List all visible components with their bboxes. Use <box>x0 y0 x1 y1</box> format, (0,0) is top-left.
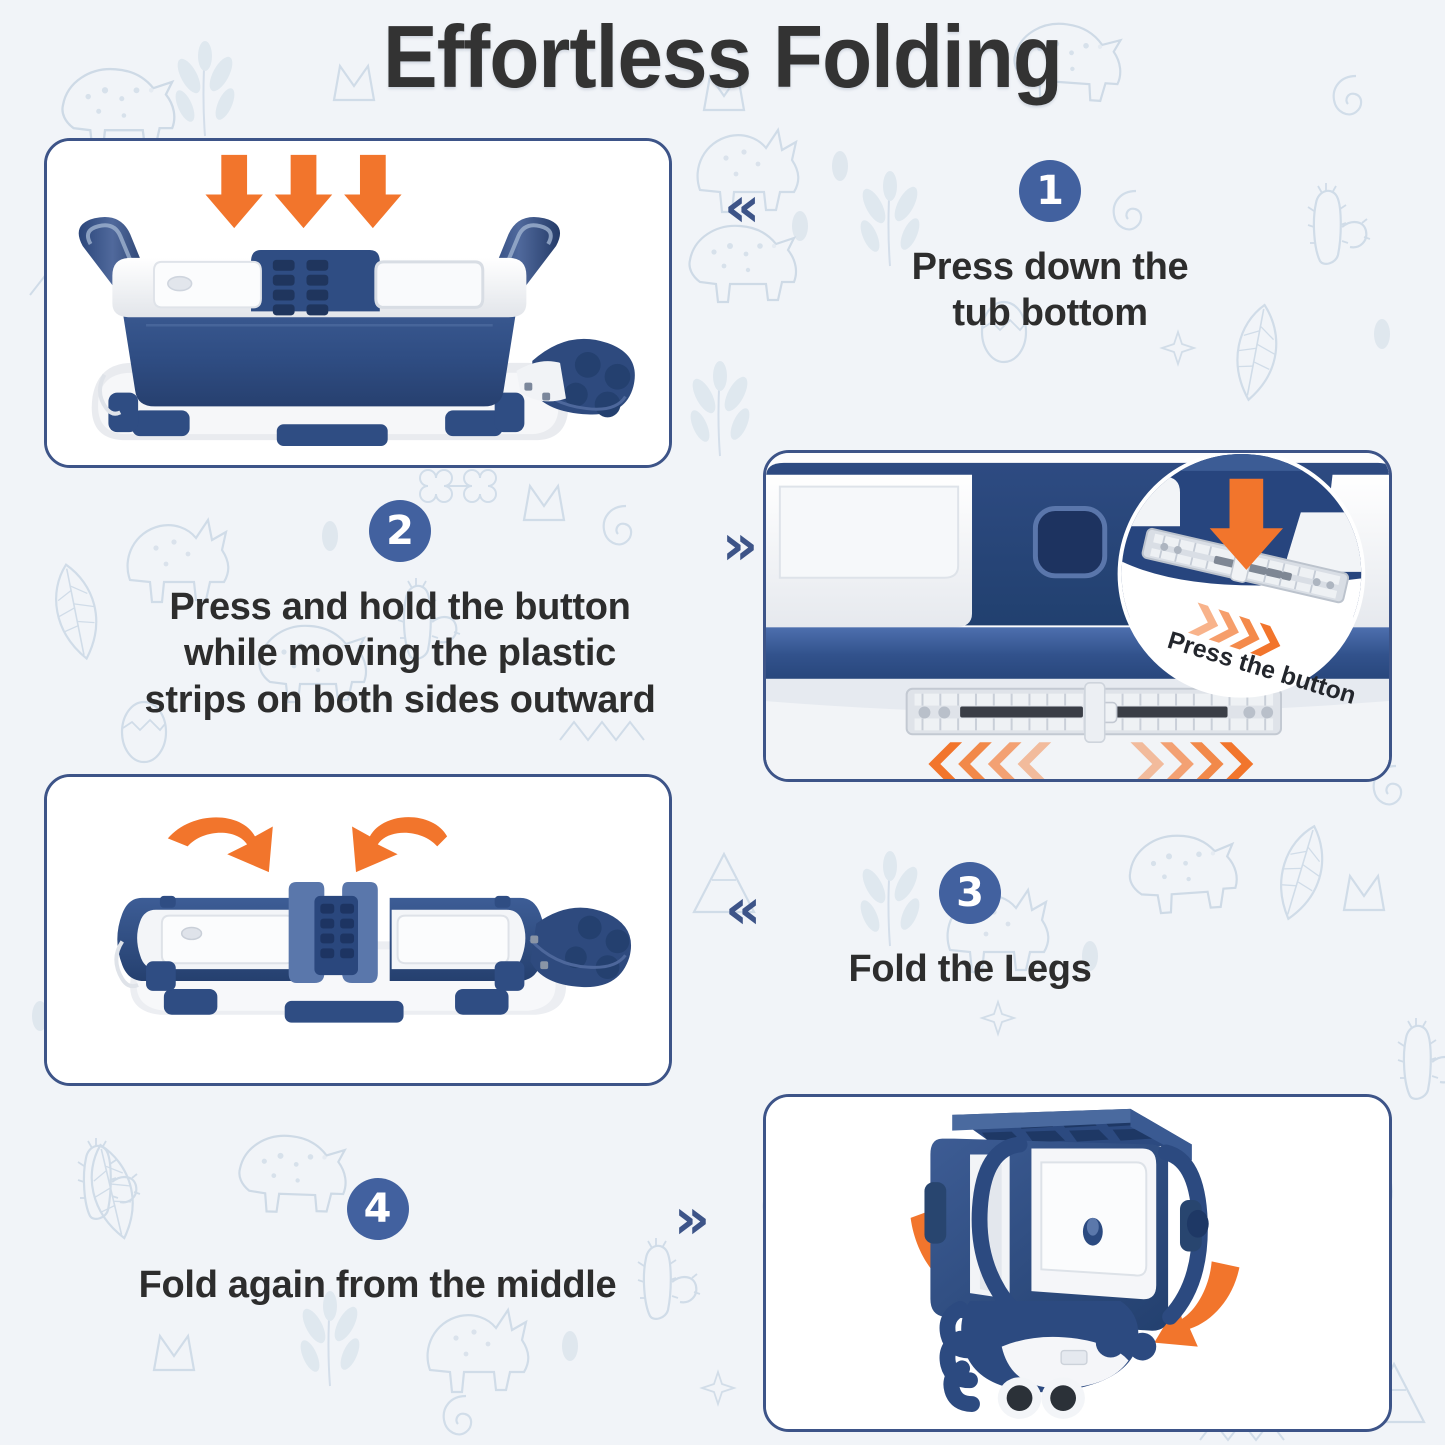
chevron-right-double-icon: » <box>722 518 758 574</box>
bathtub-folded-illustration <box>766 1097 1389 1432</box>
chevron-left-double-icon: « <box>725 882 761 938</box>
product-photo-panel-1 <box>44 138 672 468</box>
button-closeup-illustration: Press the button <box>766 453 1389 782</box>
product-photo-panel-2: Press the button <box>763 450 1392 782</box>
step-4-number-badge: 4 <box>347 1178 409 1240</box>
step-3-text: Fold the Legs <box>735 946 1205 992</box>
step-4: » 4 Fold again from the middle <box>65 1178 690 1308</box>
bathtub-flat-illustration <box>47 777 669 1086</box>
step-1: « 1 Press down the tub bottom <box>740 160 1360 337</box>
step-2-line-3: strips on both sides outward <box>60 677 740 723</box>
step-2-line-1: Press and hold the button <box>60 584 740 630</box>
step-2: » 2 Press and hold the button while movi… <box>60 500 740 723</box>
page-title: Effortless Folding <box>51 12 1395 102</box>
step-1-number-badge: 1 <box>1019 160 1081 222</box>
step-1-line-2: tub bottom <box>740 290 1360 336</box>
step-2-number-badge: 2 <box>369 500 431 562</box>
step-4-line-1: Fold again from the middle <box>65 1262 690 1308</box>
step-4-text: Fold again from the middle <box>65 1262 690 1308</box>
step-1-text: Press down the tub bottom <box>740 244 1360 337</box>
product-photo-panel-4 <box>763 1094 1392 1432</box>
step-2-text: Press and hold the button while moving t… <box>60 584 740 723</box>
step-3-number-badge: 3 <box>939 862 1001 924</box>
bathtub-open-illustration <box>47 141 669 468</box>
down-arrow-group <box>205 155 401 228</box>
step-3: « 3 Fold the Legs <box>735 862 1205 992</box>
step-2-line-2: while moving the plastic <box>60 630 740 676</box>
infographic-canvas: Effortless Folding <box>0 0 1445 1445</box>
chevron-right-double-icon: » <box>674 1192 710 1248</box>
chevron-left-double-icon: « <box>724 180 760 236</box>
step-3-line-1: Fold the Legs <box>735 946 1205 992</box>
product-photo-panel-3 <box>44 774 672 1086</box>
step-1-line-1: Press down the <box>740 244 1360 290</box>
